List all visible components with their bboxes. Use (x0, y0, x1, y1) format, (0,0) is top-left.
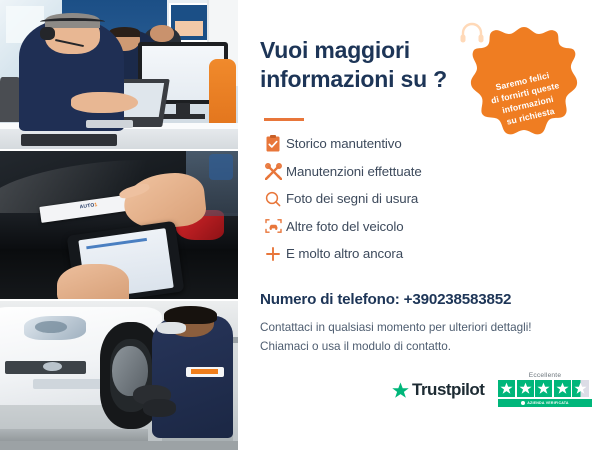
star-3 (535, 380, 552, 397)
trustpilot-wordmark: Trustpilot (412, 380, 484, 400)
second-keyboard (86, 120, 134, 127)
list-item: E molto altro ancora (260, 240, 560, 268)
background-sign (209, 154, 233, 181)
paragraph-line-1: Contattaci in qualsiasi momento per ulte… (260, 318, 590, 337)
contact-paragraph: Contattaci in qualsiasi momento per ulte… (260, 318, 590, 356)
content-panel: Vuoi maggiori informazioni su ? Saremo f… (252, 0, 600, 450)
verified-business-badge: AZIENDA VERIFICATA (498, 399, 592, 407)
lower-grille (33, 379, 104, 389)
rating-label: Eccellente (498, 372, 592, 379)
trustpilot-star-icon (392, 382, 409, 399)
agent-one-arm (71, 92, 138, 113)
star-1 (498, 380, 515, 397)
monitor-base (162, 114, 205, 118)
trustpilot-logo: Trustpilot (392, 380, 484, 400)
feature-list: Storico manutentivo Manutenzi (260, 130, 560, 268)
list-item: Foto dei segni di usura (260, 185, 560, 213)
orange-equipment (209, 59, 235, 130)
list-item-label: Storico manutentivo (286, 136, 402, 151)
hand-holding-tablet (57, 264, 128, 300)
star-rating (498, 380, 592, 397)
phone-number-line[interactable]: Numero di telefono: +390238583852 (260, 291, 580, 308)
list-item-label: Altre foto del veicolo (286, 219, 404, 234)
list-item-label: Foto dei segni di usura (286, 191, 418, 206)
list-item-label: Manutenzioni effettuate (286, 164, 422, 179)
photo-wheel-inspection (0, 301, 238, 450)
star-2 (517, 380, 534, 397)
list-item: Manutenzioni effettuate (260, 158, 560, 186)
trustpilot-block: Trustpilot Eccellente AZIENDA VERIFICATA (392, 372, 592, 416)
verified-label: AZIENDA VERIFICATA (527, 401, 568, 405)
verified-check-icon (521, 401, 525, 405)
list-item: Altre foto del veicolo (260, 213, 560, 241)
list-item: Storico manutentivo (260, 130, 560, 158)
keyboard (21, 134, 116, 146)
list-item-label: E molto altro ancora (286, 246, 403, 261)
tools-cross-icon (260, 162, 286, 180)
clipboard-check-icon (260, 135, 286, 153)
title-divider (264, 118, 304, 121)
headset-band-icon (40, 18, 104, 25)
face-mask (157, 322, 186, 334)
car-headlight (24, 316, 86, 340)
gloved-hand-lower (143, 399, 176, 417)
photo-label-tablet: AUTO1 (0, 151, 238, 300)
title-line-2: informazioni su ? (260, 65, 480, 94)
photo-column: AUTO1 (0, 0, 238, 450)
trustpilot-rating: Eccellente AZIENDA VERIFICATA (498, 372, 592, 407)
garage-floor (0, 441, 238, 450)
car-frame-icon (260, 217, 286, 235)
star-4 (554, 380, 571, 397)
paragraph-line-2: Chiamaci o usa il modulo di contatto. (260, 337, 590, 356)
magnifier-icon (260, 190, 286, 208)
headset-earcup (40, 27, 54, 40)
photo-call-center (0, 0, 238, 149)
mechanic-hair (164, 306, 216, 324)
star-5-half (572, 380, 589, 397)
plus-icon (260, 245, 286, 263)
agent-three-head (150, 25, 174, 41)
promo-card: AUTO1 (0, 0, 600, 450)
uniform-logo-patch (186, 367, 224, 377)
